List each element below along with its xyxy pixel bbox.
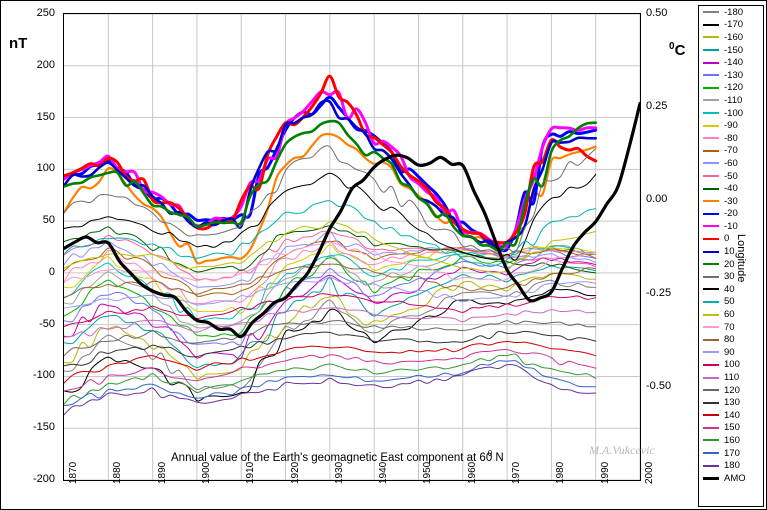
y-tick-label-left: 100 (3, 162, 55, 174)
legend-box: Longitude -180-170-160-150-140-130-120-1… (698, 5, 764, 507)
legend-swatch (703, 74, 719, 76)
legend-item: 40 (699, 283, 763, 296)
legend-label: 60 (724, 310, 735, 319)
y-axis-left-unit: nT (9, 35, 27, 52)
legend-swatch (703, 175, 719, 177)
legend-item: -60 (699, 157, 763, 170)
legend-label: -40 (724, 184, 738, 193)
legend-label: -70 (724, 146, 738, 155)
legend-item: 130 (699, 396, 763, 409)
legend-item: -120 (699, 82, 763, 95)
legend-swatch (703, 263, 719, 265)
legend-item: -180 (699, 6, 763, 19)
y-tick-label-right: 0.50 (646, 7, 696, 19)
legend-label: 20 (724, 260, 735, 269)
legend-label: 40 (724, 285, 735, 294)
legend-label: 110 (724, 373, 739, 382)
legend-item: -80 (699, 132, 763, 145)
y-tick-label-left: 200 (3, 59, 55, 71)
legend-swatch (703, 137, 719, 139)
legend-swatch (703, 377, 719, 379)
y-tick-label-left: 150 (3, 111, 55, 123)
legend-swatch (703, 213, 719, 215)
x-tick-label: 1880 (112, 462, 123, 484)
legend-item: -140 (699, 56, 763, 69)
legend-label: 50 (724, 297, 735, 306)
legend-item: -150 (699, 44, 763, 57)
legend-item: -170 (699, 19, 763, 32)
legend-label: 30 (724, 272, 735, 281)
chart-svg (64, 14, 640, 480)
legend-item: 10 (699, 245, 763, 258)
legend-swatch (703, 288, 719, 290)
y-tick-label-left: -100 (3, 369, 55, 381)
legend-label: 90 (724, 348, 735, 357)
legend-label: 130 (724, 398, 740, 407)
legend-item: -130 (699, 69, 763, 82)
x-tick-label: 1870 (68, 462, 79, 484)
legend-swatch (703, 402, 719, 404)
legend-item: -70 (699, 145, 763, 158)
legend-label: 10 (724, 247, 735, 256)
legend-swatch (703, 225, 719, 227)
y-tick-label-left: -200 (3, 473, 55, 485)
legend-label: 140 (724, 411, 740, 420)
legend-label: -30 (724, 197, 738, 206)
legend-swatch (703, 251, 719, 253)
legend-label: -60 (724, 159, 738, 168)
x-tick-label: 1990 (600, 462, 611, 484)
legend-swatch (703, 351, 719, 353)
legend-swatch (703, 427, 719, 429)
legend-swatch (703, 162, 719, 164)
y-tick-label-right: -0.50 (646, 380, 696, 392)
legend-label: 170 (724, 449, 740, 458)
legend-item: 170 (699, 447, 763, 460)
legend-swatch (703, 439, 719, 441)
legend-item: -100 (699, 107, 763, 120)
legend-swatch (703, 99, 719, 101)
legend-label: -10 (724, 222, 738, 231)
legend-swatch (703, 276, 719, 278)
legend-label: AMO (724, 474, 746, 483)
x-tick-label: 1980 (555, 462, 566, 484)
legend-label: -100 (724, 109, 743, 118)
x-tick-label: 1940 (378, 462, 389, 484)
x-tick-label: 1930 (334, 462, 345, 484)
legend-label: -20 (724, 209, 738, 218)
x-tick-label: 1960 (467, 462, 478, 484)
author-signature: M.A.Vukcevic (589, 443, 655, 458)
legend-item: 180 (699, 459, 763, 472)
legend-label: -110 (724, 96, 742, 105)
legend-item: 90 (699, 346, 763, 359)
y-axis-right-unit-text: C (675, 42, 686, 59)
legend-item: AMO (699, 472, 763, 485)
legend-swatch (703, 112, 719, 114)
legend-item: -110 (699, 94, 763, 107)
legend-label: -140 (724, 58, 743, 67)
legend-item: 120 (699, 384, 763, 397)
y-tick-label-right: 0.25 (646, 100, 696, 112)
legend-label: 120 (724, 386, 740, 395)
legend-swatch (703, 414, 719, 416)
y-axis-right-unit: 0C (669, 41, 685, 59)
legend-item: 60 (699, 308, 763, 321)
legend-swatch (703, 465, 719, 467)
x-tick-label: 1950 (422, 462, 433, 484)
legend-label: -50 (724, 172, 738, 181)
legend-label: -150 (724, 46, 743, 55)
legend-item: 100 (699, 359, 763, 372)
legend-swatch (703, 314, 719, 316)
legend-item: 80 (699, 333, 763, 346)
y-tick-label-left: -50 (3, 318, 55, 330)
legend-item: -160 (699, 31, 763, 44)
legend-swatch (703, 301, 719, 303)
x-tick-label: 1970 (511, 462, 522, 484)
y-tick-label-left: 0 (3, 266, 55, 278)
legend-swatch (703, 62, 719, 64)
y-tick-label-left: 250 (3, 7, 55, 19)
legend-item: -50 (699, 170, 763, 183)
legend-swatch (703, 49, 719, 51)
legend-label: 0 (724, 234, 729, 243)
legend-item: 110 (699, 371, 763, 384)
legend-label: 180 (724, 461, 740, 470)
legend-item: -40 (699, 182, 763, 195)
legend-swatch (703, 11, 719, 13)
legend-swatch (703, 150, 719, 152)
legend-swatch (703, 238, 719, 240)
legend-label: 70 (724, 323, 735, 332)
legend-swatch (703, 339, 719, 341)
legend-label: 150 (724, 423, 740, 432)
legend-item: -10 (699, 220, 763, 233)
legend-item: -90 (699, 119, 763, 132)
legend-item: 160 (699, 434, 763, 447)
legend-item: 30 (699, 270, 763, 283)
x-tick-label: 1910 (245, 462, 256, 484)
legend-label: 160 (724, 436, 740, 445)
legend-label: -170 (724, 20, 743, 29)
legend-swatch (703, 364, 719, 366)
legend-label: -80 (724, 134, 738, 143)
x-tick-label: 1890 (157, 462, 168, 484)
x-tick-label: 2000 (644, 462, 655, 484)
legend-item: 150 (699, 422, 763, 435)
legend-swatch (703, 188, 719, 190)
legend-label: 80 (724, 335, 735, 344)
x-tick-label: 1920 (290, 462, 301, 484)
legend-swatch (703, 125, 719, 127)
legend-swatch (703, 87, 719, 89)
x-tick-label: 1900 (201, 462, 212, 484)
legend-label: -180 (724, 8, 743, 17)
legend-swatch (703, 200, 719, 202)
caption-degree-superscript: 0 (488, 449, 492, 458)
plot-area (63, 13, 641, 481)
legend-swatch (703, 24, 719, 26)
legend-item: 20 (699, 258, 763, 271)
legend-label: -120 (724, 83, 743, 92)
legend-item: 70 (699, 321, 763, 334)
legend-swatch (703, 36, 719, 38)
legend-label: -90 (724, 121, 738, 130)
legend-swatch (703, 326, 719, 328)
legend-item: 50 (699, 296, 763, 309)
y-tick-label-left: -150 (3, 421, 55, 433)
legend-items: -180-170-160-150-140-130-120-110-100-90-… (699, 6, 763, 485)
legend-item: 0 (699, 233, 763, 246)
legend-label: 100 (724, 360, 740, 369)
legend-label: -160 (724, 33, 743, 42)
y-tick-label-right: 0.00 (646, 193, 696, 205)
legend-item: -20 (699, 208, 763, 221)
legend-label: -130 (724, 71, 743, 80)
legend-swatch (703, 452, 719, 454)
y-tick-label-right: -0.25 (646, 287, 696, 299)
y-tick-label-left: 50 (3, 214, 55, 226)
legend-swatch (703, 477, 719, 480)
legend-item: 140 (699, 409, 763, 422)
legend-swatch (703, 389, 719, 391)
chart-figure: nT 0C IS THE AMO CAUSED BY SOLAR ACTIVIT… (0, 0, 767, 510)
legend-item: -30 (699, 195, 763, 208)
